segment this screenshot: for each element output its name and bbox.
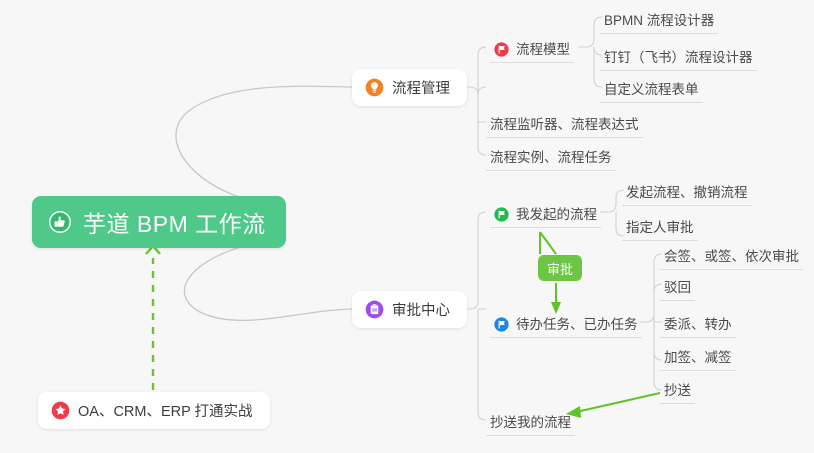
node-label: 驳回: [664, 280, 691, 295]
branch-process-management[interactable]: 流程管理: [352, 69, 467, 106]
node-process-model[interactable]: 流程模型: [490, 37, 574, 63]
node-process-listener-expression[interactable]: 流程监听器、流程表达式: [486, 112, 643, 138]
node-label: 流程模型: [516, 42, 570, 57]
branch-label: 流程管理: [392, 77, 450, 98]
root-node[interactable]: 芋道 BPM 工作流: [32, 196, 286, 248]
node-cc-to-me-process[interactable]: 抄送我的流程: [486, 410, 575, 436]
node-label: 流程实例、流程任务: [490, 150, 612, 165]
branch-approval-center[interactable]: 审批中心: [352, 291, 467, 328]
node-label: 待办任务、已办任务: [516, 317, 638, 332]
node-add-remove-sign[interactable]: 加签、减签: [660, 345, 736, 371]
annotation-label: 审批: [547, 259, 573, 278]
integration-dashed-arrow: [146, 246, 160, 390]
flag-green-icon: [494, 207, 509, 222]
node-assignee-approval[interactable]: 指定人审批: [622, 215, 698, 241]
annotation-integration-card[interactable]: OA、CRM、ERP 打通实战: [38, 392, 270, 429]
node-label: 指定人审批: [626, 220, 694, 235]
root-label: 芋道 BPM 工作流: [83, 205, 266, 239]
node-bpmn-designer[interactable]: BPMN 流程设计器: [600, 8, 718, 34]
node-label: 流程监听器、流程表达式: [490, 117, 639, 132]
node-dingtalk-feishu-designer[interactable]: 钉钉（飞书）流程设计器: [600, 45, 757, 71]
flag-red-icon: [494, 42, 509, 57]
node-label: 抄送: [664, 383, 691, 398]
node-start-cancel-process[interactable]: 发起流程、撤销流程: [622, 180, 752, 206]
annotation-label: OA、CRM、ERP 打通实战: [78, 400, 253, 421]
node-reject[interactable]: 驳回: [660, 275, 695, 301]
flag-blue-icon: [494, 317, 509, 332]
node-countersign-orsign-sequential[interactable]: 会签、或签、依次审批: [660, 244, 803, 270]
clipboard-icon: [365, 300, 384, 319]
mindmap-canvas: 芋道 BPM 工作流 流程管理 流程模型 BPMN 流程设计器 钉钉（飞书）流程: [0, 0, 814, 453]
lightbulb-icon: [365, 78, 384, 97]
cc-to-flow-arrow: [566, 393, 660, 418]
node-label: 我发起的流程: [516, 207, 597, 222]
node-my-started-process[interactable]: 我发起的流程: [490, 202, 601, 228]
node-label: 发起流程、撤销流程: [626, 185, 748, 200]
node-label: BPMN 流程设计器: [604, 13, 714, 28]
node-label: 委派、转办: [664, 317, 732, 332]
node-label: 自定义流程表单: [604, 82, 699, 97]
node-custom-process-form[interactable]: 自定义流程表单: [600, 77, 703, 103]
node-delegate-transfer[interactable]: 委派、转办: [660, 312, 736, 338]
node-label: 抄送我的流程: [490, 415, 571, 430]
node-label: 会签、或签、依次审批: [664, 249, 799, 264]
star-icon: [51, 401, 70, 420]
thumbs-up-icon: [48, 210, 72, 234]
annotation-approval-chip: 审批: [538, 255, 582, 281]
branch-label: 审批中心: [392, 299, 450, 320]
node-cc[interactable]: 抄送: [660, 378, 695, 404]
node-label: 加签、减签: [664, 350, 732, 365]
node-todo-done-task[interactable]: 待办任务、已办任务: [490, 312, 642, 338]
node-process-instance-task[interactable]: 流程实例、流程任务: [486, 145, 616, 171]
node-label: 钉钉（飞书）流程设计器: [604, 50, 753, 65]
